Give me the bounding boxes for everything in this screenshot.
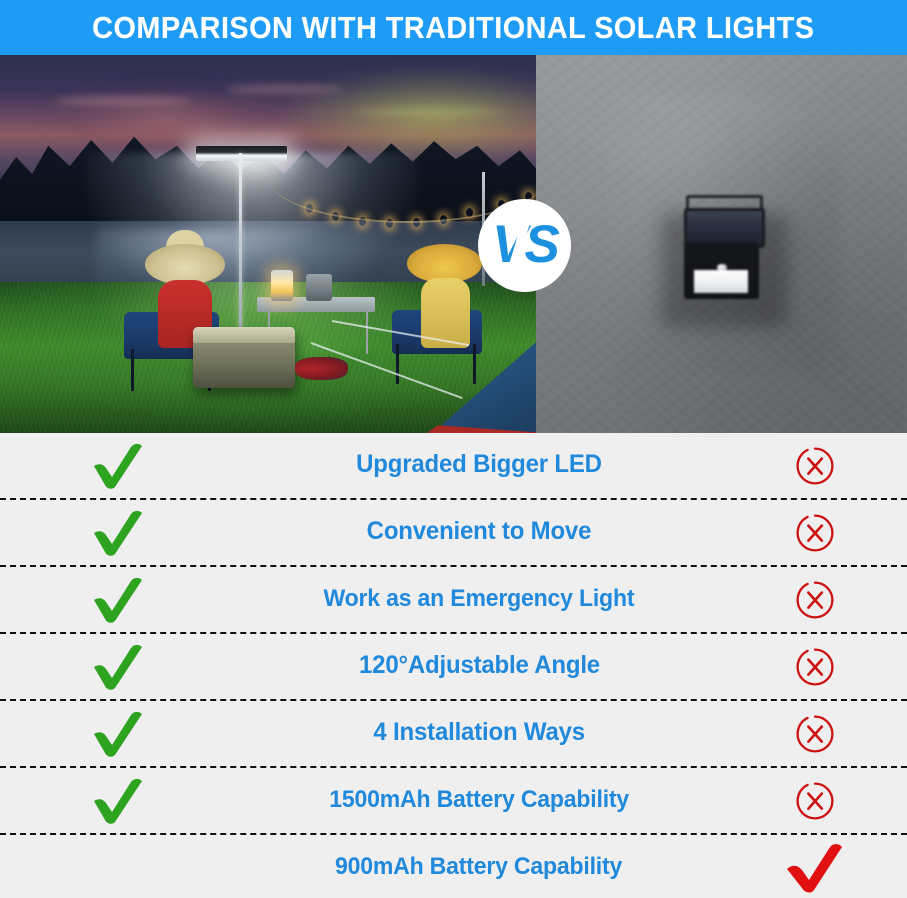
cell-traditional-product bbox=[722, 647, 907, 687]
cell-feature: 900mAh Battery Capability bbox=[236, 853, 722, 883]
feature-label: Upgraded Bigger LED bbox=[356, 450, 602, 479]
feature-label: 1500mAh Battery Capability bbox=[329, 786, 629, 814]
check-green-icon bbox=[90, 509, 146, 557]
cell-new-product bbox=[0, 509, 236, 557]
feature-label: 4 Installation Ways bbox=[373, 718, 585, 747]
check-green-icon bbox=[90, 643, 146, 691]
camping-lantern bbox=[271, 270, 294, 300]
cloud-band bbox=[354, 108, 504, 116]
cell-feature: Work as an Emergency Light bbox=[236, 585, 722, 615]
header-banner: COMPARISON WITH TRADITIONAL SOLAR LIGHTS bbox=[0, 0, 907, 55]
check-red-icon bbox=[784, 843, 846, 893]
photo-camping-scene bbox=[0, 55, 536, 433]
table-row: 120°Adjustable Angle bbox=[0, 634, 907, 701]
straw-hat bbox=[407, 244, 482, 283]
table-row: Upgraded Bigger LED bbox=[0, 433, 907, 500]
cooler-lid bbox=[193, 327, 295, 343]
check-green-icon bbox=[90, 710, 146, 758]
circle-x-icon bbox=[795, 580, 835, 620]
circle-x-icon bbox=[795, 714, 835, 754]
led-panel bbox=[694, 270, 748, 293]
cell-traditional-product bbox=[722, 714, 907, 754]
no-mark bbox=[98, 848, 138, 888]
comparison-photo-strip bbox=[0, 55, 907, 433]
circle-x-icon bbox=[795, 781, 835, 821]
light-pole bbox=[239, 153, 242, 342]
photo-traditional-solar-light bbox=[536, 55, 907, 433]
cell-new-product bbox=[0, 848, 236, 888]
cooler-box bbox=[193, 327, 295, 387]
string-light-bulb bbox=[386, 219, 393, 228]
cell-traditional-product bbox=[722, 781, 907, 821]
cell-feature: Convenient to Move bbox=[236, 517, 722, 548]
feature-label: 120°Adjustable Angle bbox=[359, 651, 600, 680]
cell-feature: 1500mAh Battery Capability bbox=[236, 786, 722, 816]
cell-feature: Upgraded Bigger LED bbox=[236, 450, 722, 481]
table-row: Convenient to Move bbox=[0, 500, 907, 567]
cooking-pot bbox=[306, 274, 333, 300]
table-row: 1500mAh Battery Capability bbox=[0, 768, 907, 835]
string-light-bulb bbox=[440, 215, 447, 224]
string-light-bulb bbox=[359, 217, 366, 226]
circle-x-icon bbox=[795, 513, 835, 553]
feature-label: 900mAh Battery Capability bbox=[335, 853, 622, 881]
cell-new-product bbox=[0, 777, 236, 825]
check-green-icon bbox=[90, 777, 146, 825]
chair-leg bbox=[396, 344, 399, 384]
shoes-on-grass bbox=[295, 357, 349, 380]
cell-traditional-product bbox=[722, 580, 907, 620]
chair-leg bbox=[131, 349, 134, 392]
table-row: 900mAh Battery Capability bbox=[0, 835, 907, 898]
fixture-body bbox=[684, 242, 759, 299]
page-title: COMPARISON WITH TRADITIONAL SOLAR LIGHTS bbox=[92, 10, 814, 46]
cell-new-product bbox=[0, 442, 236, 490]
cell-traditional-product bbox=[722, 843, 907, 893]
check-green-icon bbox=[90, 576, 146, 624]
comparison-table: Upgraded Bigger LEDConvenient to MoveWor… bbox=[0, 433, 907, 898]
circle-x-icon bbox=[795, 446, 835, 486]
cell-feature: 120°Adjustable Angle bbox=[236, 651, 722, 682]
bucket-hat bbox=[145, 244, 225, 285]
feature-label: Convenient to Move bbox=[367, 517, 592, 546]
cloud-band bbox=[54, 97, 193, 105]
string-light-bulb bbox=[306, 204, 313, 213]
traditional-solar-fixture bbox=[681, 202, 763, 300]
feature-label: Work as an Emergency Light bbox=[324, 585, 635, 613]
check-green-icon bbox=[90, 442, 146, 490]
cell-new-product bbox=[0, 710, 236, 758]
table-row: Work as an Emergency Light bbox=[0, 567, 907, 634]
versus-badge: VS bbox=[478, 199, 571, 292]
sky-pink-glow bbox=[43, 85, 290, 153]
cell-new-product bbox=[0, 576, 236, 624]
cell-traditional-product bbox=[722, 446, 907, 486]
cell-new-product bbox=[0, 643, 236, 691]
cell-feature: 4 Installation Ways bbox=[236, 718, 722, 749]
circle-x-icon bbox=[795, 647, 835, 687]
table-row: 4 Installation Ways bbox=[0, 701, 907, 768]
product-comparison-infographic: COMPARISON WITH TRADITIONAL SOLAR LIGHTS bbox=[0, 0, 907, 898]
cell-traditional-product bbox=[722, 513, 907, 553]
string-light-bulb bbox=[413, 218, 420, 227]
